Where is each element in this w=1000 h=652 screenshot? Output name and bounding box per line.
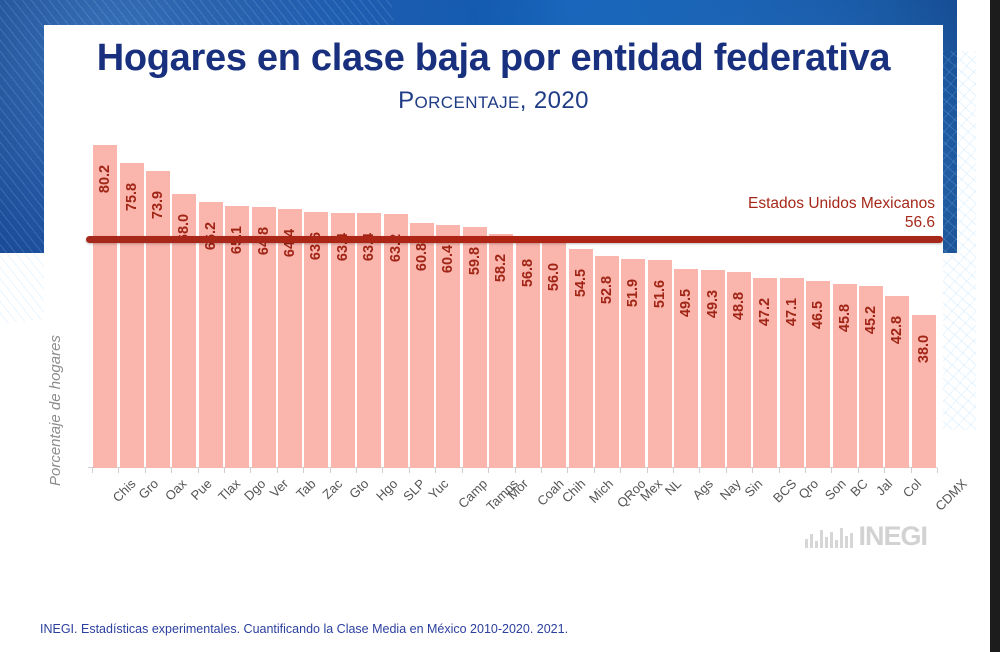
logo-bar xyxy=(840,528,843,548)
bar-value-label: 49.5 xyxy=(678,289,694,317)
reference-line-annotation: Estados Unidos Mexicanos 56.6 xyxy=(748,194,935,232)
bar-value-label: 52.8 xyxy=(599,275,615,303)
bar-gro: 75.8 xyxy=(120,163,144,468)
x-tick-label-gro: Gro xyxy=(135,476,161,502)
bar-value-label: 56.0 xyxy=(546,263,562,291)
bar-value-label: 51.6 xyxy=(652,280,668,308)
bar-tamps: 59.8 xyxy=(463,227,487,468)
bar-value-label: 56.8 xyxy=(520,259,536,287)
bar-camp: 60.4 xyxy=(436,225,460,468)
logo-bar xyxy=(845,536,848,548)
x-tick-label-oax: Oax xyxy=(162,476,189,503)
bar-value-label: 45.8 xyxy=(837,304,853,332)
bar-value-label: 60.4 xyxy=(440,245,456,273)
x-axis-tick xyxy=(937,468,938,473)
x-axis-tick xyxy=(171,468,172,473)
bar-value-label: 45.2 xyxy=(863,306,879,334)
bar-ags: 49.5 xyxy=(674,269,698,468)
chart-card: Hogares en clase baja por entidad federa… xyxy=(44,25,943,560)
bar-mich: 54.5 xyxy=(569,249,593,468)
bar-value-label: 73.9 xyxy=(150,191,166,219)
x-tick-label-mich: Mich xyxy=(586,476,616,506)
x-axis-tick xyxy=(647,468,648,473)
bar-gto: 63.4 xyxy=(331,213,355,468)
bar-zac: 63.6 xyxy=(304,212,328,468)
x-axis-tick xyxy=(250,468,251,473)
bar-slp: 63.2 xyxy=(384,214,408,468)
x-axis-tick xyxy=(277,468,278,473)
x-axis-tick xyxy=(858,468,859,473)
x-axis-tick xyxy=(515,468,516,473)
x-tick-label-jal: Jal xyxy=(873,476,895,498)
bar-oax: 73.9 xyxy=(146,171,170,468)
page-title: Hogares en clase baja por entidad federa… xyxy=(44,37,943,80)
x-axis-tick xyxy=(92,468,93,473)
bar-son: 46.5 xyxy=(806,281,830,468)
x-axis-tick xyxy=(567,468,568,473)
x-tick-label-cdmx: CDMX xyxy=(932,476,970,514)
bar-value-label: 42.8 xyxy=(889,316,905,344)
inegi-logo-text: INEGI xyxy=(858,521,927,552)
x-tick-label-gto: Gto xyxy=(346,476,371,501)
x-axis-tick xyxy=(594,468,595,473)
inegi-bars-mark-icon xyxy=(805,526,853,548)
logo-bar xyxy=(825,537,828,548)
x-tick-label-ver: Ver xyxy=(266,476,290,500)
bar-value-label: 60.8 xyxy=(414,243,430,271)
page-subtitle: Porcentaje, 2020 xyxy=(44,87,943,115)
x-axis-tick xyxy=(911,468,912,473)
bar-bcs: 47.2 xyxy=(753,278,777,468)
bar-mor: 58.2 xyxy=(489,234,513,468)
x-tick-label-zac: Zac xyxy=(320,476,346,502)
x-tick-label-chih: Chih xyxy=(559,476,589,506)
bar-rect xyxy=(93,145,117,468)
x-axis-tick xyxy=(752,468,753,473)
x-axis-tick xyxy=(435,468,436,473)
x-axis-tick xyxy=(409,468,410,473)
logo-bar xyxy=(805,539,808,548)
bar-jal: 45.2 xyxy=(859,286,883,468)
x-axis-tick xyxy=(356,468,357,473)
bar-dgo: 65.1 xyxy=(225,206,249,468)
bar-coah: 56.8 xyxy=(516,239,540,468)
right-edge-bar xyxy=(990,0,1000,652)
bar-col: 42.8 xyxy=(885,296,909,468)
logo-bar xyxy=(810,534,813,548)
x-axis-tick xyxy=(488,468,489,473)
logo-bar xyxy=(830,532,833,548)
x-axis-tick xyxy=(805,468,806,473)
bar-ver: 64.8 xyxy=(252,207,276,468)
x-axis-tick xyxy=(330,468,331,473)
bar-value-label: 38.0 xyxy=(916,335,932,363)
x-axis-tick xyxy=(673,468,674,473)
inegi-logo: INEGI xyxy=(805,521,927,552)
x-axis-tick xyxy=(118,468,119,473)
logo-bar xyxy=(835,540,838,548)
logo-bar xyxy=(850,533,853,548)
x-tick-label-son: Son xyxy=(822,476,849,503)
x-axis-tick xyxy=(145,468,146,473)
bar-chih: 56.0 xyxy=(542,243,566,468)
bar-qro: 47.1 xyxy=(780,278,804,468)
x-tick-label-sin: Sin xyxy=(741,476,765,500)
reference-line-label: Estados Unidos Mexicanos xyxy=(748,195,935,212)
x-axis-tick xyxy=(462,468,463,473)
bar-cdmx: 38.0 xyxy=(912,315,936,468)
slide: Hogares en clase baja por entidad federa… xyxy=(0,0,990,652)
x-axis-tick xyxy=(726,468,727,473)
x-tick-label-hgo: Hgo xyxy=(373,476,400,503)
x-tick-label-nl: NL xyxy=(662,476,684,498)
reference-line-national-average xyxy=(86,236,943,243)
bar-value-label: 47.2 xyxy=(757,298,773,326)
reference-line-value: 56.6 xyxy=(748,213,935,232)
bar-chart-plot-area: Porcentaje de hogares 80.275.873.968.066… xyxy=(92,130,937,468)
bar-chis: 80.2 xyxy=(93,145,117,468)
bar-value-label: 46.5 xyxy=(810,301,826,329)
x-tick-label-ags: Ags xyxy=(690,476,716,502)
bar-value-label: 59.8 xyxy=(467,247,483,275)
bar-value-label: 80.2 xyxy=(97,165,113,193)
x-axis-tick xyxy=(831,468,832,473)
logo-bar xyxy=(815,541,818,548)
x-axis-tick xyxy=(699,468,700,473)
x-tick-label-qro: Qro xyxy=(795,476,821,502)
bar-value-label: 49.3 xyxy=(705,290,721,318)
x-tick-label-col: Col xyxy=(900,476,924,500)
x-axis-tick xyxy=(303,468,304,473)
bar-nay: 49.3 xyxy=(701,270,725,468)
bar-value-label: 47.1 xyxy=(784,298,800,326)
x-tick-label-yuc: Yuc xyxy=(425,476,451,502)
logo-bar xyxy=(820,530,823,548)
bar-value-label: 58.2 xyxy=(493,254,509,282)
y-axis-label: Porcentaje de hogares xyxy=(47,335,64,486)
x-tick-label-dgo: Dgo xyxy=(241,476,268,503)
bar-yuc: 60.8 xyxy=(410,223,434,468)
x-axis-tick xyxy=(884,468,885,473)
x-axis-tick xyxy=(541,468,542,473)
bar-tab: 64.4 xyxy=(278,209,302,468)
x-tick-label-tlax: Tlax xyxy=(215,476,243,504)
bar-value-label: 75.8 xyxy=(124,183,140,211)
x-axis-tick xyxy=(779,468,780,473)
x-tick-label-nay: Nay xyxy=(716,476,743,503)
x-tick-label-slp: SLP xyxy=(400,476,428,504)
x-tick-label-bc: BC xyxy=(847,476,870,499)
bar-value-label: 48.8 xyxy=(731,292,747,320)
bar-value-label: 54.5 xyxy=(573,269,589,297)
x-axis-tick xyxy=(382,468,383,473)
x-tick-label-tab: Tab xyxy=(293,476,318,501)
x-tick-label-pue: Pue xyxy=(188,476,215,503)
x-axis-tick xyxy=(620,468,621,473)
bar-value-label: 51.9 xyxy=(625,279,641,307)
bar-hgo: 63.4 xyxy=(357,213,381,468)
source-footnote: INEGI. Estadísticas experimentales. Cuan… xyxy=(40,622,568,636)
bar-bc: 45.8 xyxy=(833,284,857,468)
bar-nl: 51.6 xyxy=(648,260,672,468)
bar-sin: 48.8 xyxy=(727,272,751,468)
bar-qroo: 52.8 xyxy=(595,256,619,468)
x-axis-tick xyxy=(224,468,225,473)
x-axis-tick xyxy=(198,468,199,473)
bar-mex: 51.9 xyxy=(621,259,645,468)
